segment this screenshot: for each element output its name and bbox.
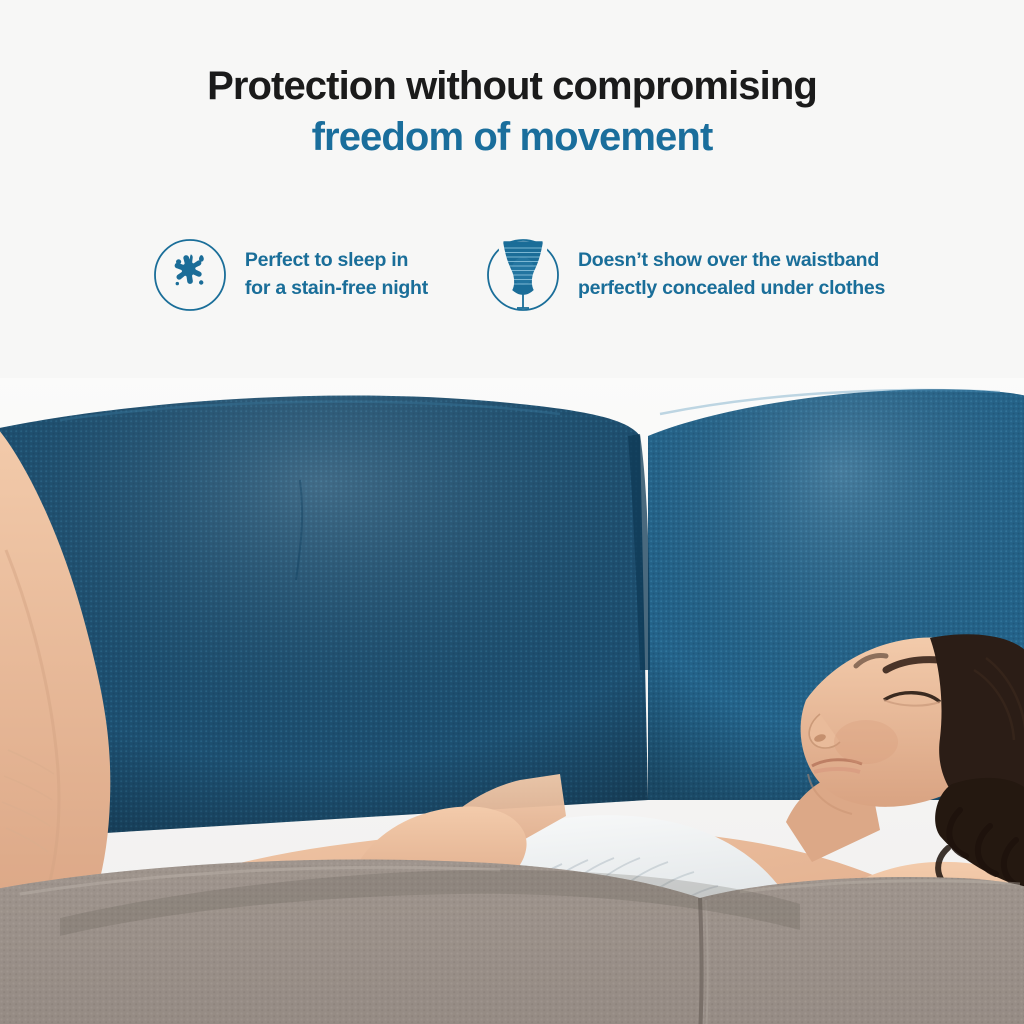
info-panel: Protection without compromising freedom … [0,0,1024,378]
lifestyle-photo [0,370,1024,1024]
page-title: Protection without compromising freedom … [0,0,1024,161]
headline-line-2: freedom of movement [0,114,1024,161]
brief-underwear-icon [486,238,560,312]
feature-list: Perfect to sleep in for a stain-free nig… [0,238,1024,312]
headline-line-1: Protection without compromising [0,63,1024,110]
feature-label-concealed: Doesn’t show over the waistband perfectl… [578,247,885,302]
feature-item-concealed: Doesn’t show over the waistband perfectl… [486,238,885,312]
product-benefits-banner: Protection without compromising freedom … [0,0,1024,1024]
splash-stain-icon [153,238,227,312]
feature-label-sleep: Perfect to sleep in for a stain-free nig… [245,247,428,302]
feature-item-sleep: Perfect to sleep in for a stain-free nig… [153,238,428,312]
